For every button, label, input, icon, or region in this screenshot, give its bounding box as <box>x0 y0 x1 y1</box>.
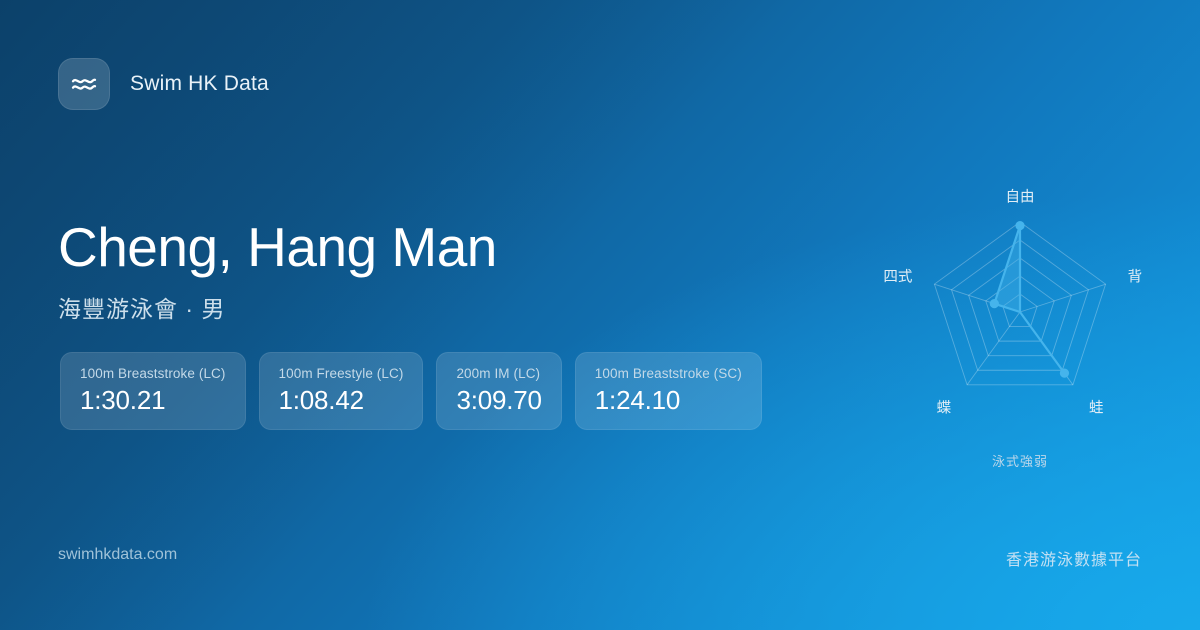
hero-block: Cheng, Hang Man 海豐游泳會 · 男 <box>58 218 497 324</box>
radar-chart-svg <box>870 170 1170 470</box>
radar-axis-label-4: 四式 <box>883 266 912 287</box>
page-title: Cheng, Hang Man <box>58 218 497 276</box>
radar-axis-label-3: 蝶 <box>937 396 952 417</box>
brand-header: Swim HK Data <box>58 58 269 110</box>
stat-card-label: 100m Freestyle (LC) <box>279 366 404 381</box>
footer-tagline: 香港游泳數據平台 <box>1006 546 1142 570</box>
stat-card[interactable]: 100m Breaststroke (SC) 1:24.10 <box>575 352 762 430</box>
radar-chart-caption: 泳式強弱 <box>870 451 1170 470</box>
share-card-canvas: Swim HK Data Cheng, Hang Man 海豐游泳會 · 男 1… <box>0 0 1200 630</box>
stat-card[interactable]: 100m Freestyle (LC) 1:08.42 <box>259 352 424 430</box>
athlete-meta: 海豐游泳會 · 男 <box>58 290 497 324</box>
radar-axis-label-0: 自由 <box>1006 186 1035 207</box>
radar-chart: 自由 背 蛙 蝶 四式 泳式強弱 <box>870 170 1170 470</box>
stat-card-value: 1:08.42 <box>279 385 404 416</box>
radar-axis-label-2: 蛙 <box>1089 396 1104 417</box>
stat-card-list: 100m Breaststroke (LC) 1:30.21 100m Free… <box>60 352 762 430</box>
stat-card-value: 1:24.10 <box>595 385 742 416</box>
footer-site-url: swimhkdata.com <box>58 546 177 564</box>
stat-card-label: 100m Breaststroke (LC) <box>80 366 226 381</box>
stat-card-label: 200m IM (LC) <box>456 366 541 381</box>
wave-icon <box>58 58 110 110</box>
stat-card-label: 100m Breaststroke (SC) <box>595 366 742 381</box>
stat-card-value: 1:30.21 <box>80 385 226 416</box>
stat-card-value: 3:09.70 <box>456 385 541 416</box>
radar-axis-label-1: 背 <box>1128 266 1143 287</box>
brand-name: Swim HK Data <box>130 72 269 96</box>
stat-card[interactable]: 100m Breaststroke (LC) 1:30.21 <box>60 352 246 430</box>
stat-card[interactable]: 200m IM (LC) 3:09.70 <box>436 352 561 430</box>
